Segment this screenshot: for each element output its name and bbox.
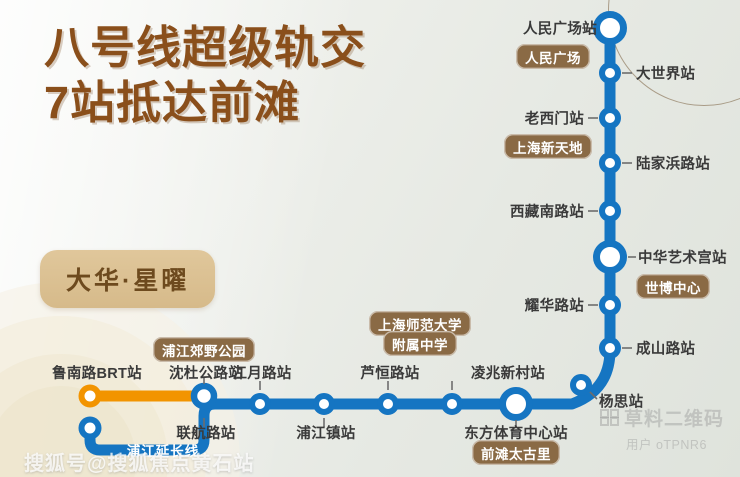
station-label-xizang-nanlu: 西藏南路站	[510, 201, 584, 222]
station-label-lingzhao-xincun: 凌兆新村站	[471, 362, 545, 383]
poi-badge-pujiang-jiaoye-gongyuan: 浦江郊野公园	[153, 337, 255, 362]
poi-badge-renmin-guangchang: 人民广场	[516, 44, 590, 69]
station-label-pujiang-zhen: 浦江镇站	[296, 422, 355, 443]
station-label-lunan-lu-brt: 鲁南路BRT站	[52, 362, 142, 383]
station-marker-pujiang-zhen[interactable]	[316, 396, 332, 412]
station-marker-renmin-guangchang[interactable]	[597, 15, 624, 42]
station-label-yaohua-lu: 耀华路站	[525, 295, 584, 316]
watermark-qr-block: 草料二维码 用户 oTPNR6	[600, 404, 735, 453]
station-marker-zhonghua-yishugong[interactable]	[597, 244, 624, 271]
watermark-qr-user: 用户 oTPNR6	[626, 434, 735, 453]
station-marker-dashijie[interactable]	[602, 65, 618, 81]
station-marker-lunan-lu-brt[interactable]	[82, 388, 99, 405]
station-label-lujiabang-lu: 陆家浜路站	[636, 153, 710, 174]
station-marker-luheng-lu[interactable]	[380, 396, 396, 412]
station-label-luheng-lu: 芦恒路站	[360, 362, 419, 383]
station-label-chengshan-lu: 成山路站	[636, 338, 695, 359]
station-marker-yangsi[interactable]	[573, 377, 589, 393]
poi-badge-xintiandi: 上海新天地	[504, 134, 592, 159]
poi-badge-shibo-zhongxin: 世博中心	[636, 274, 710, 299]
watermark-qr-title-row: 草料二维码	[600, 404, 735, 431]
station-label-renmin-guangchang: 人民广场站	[523, 18, 597, 39]
poi-badge-shishida-fuzhong-line2: 附属中学	[383, 331, 457, 356]
poi-badge-qiantan-taikooli: 前滩太古里	[472, 440, 560, 465]
station-marker-chengshan-lu[interactable]	[602, 340, 618, 356]
watermark-sohu: 搜狐号@搜狐焦点黄石站	[24, 447, 255, 476]
station-marker-yaohua-lu[interactable]	[602, 297, 618, 313]
station-marker-dongfang-tiyu-zhongxin[interactable]	[503, 391, 530, 418]
station-marker-jiangyue-lu[interactable]	[252, 396, 268, 412]
station-marker-lujiabang-lu[interactable]	[602, 155, 618, 171]
station-marker-xizang-nanlu[interactable]	[602, 203, 618, 219]
blue-line-path	[90, 20, 610, 450]
station-marker-lingzhao-xincun[interactable]	[444, 396, 460, 412]
qr-code-icon	[600, 409, 619, 426]
station-label-dashijie: 大世界站	[636, 63, 695, 84]
watermark-qr-title: 草料二维码	[624, 404, 724, 431]
station-label-shendu-gonglu: 沈杜公路站	[169, 362, 243, 383]
station-label-zhonghua-yishugong: 中华艺术宫站	[638, 247, 727, 268]
station-marker-shendu-gonglu[interactable]	[194, 386, 214, 406]
station-marker-laoximen[interactable]	[602, 110, 618, 126]
station-marker-blue-branch-terminus[interactable]	[82, 420, 99, 437]
station-label-laoximen: 老西门站	[525, 108, 584, 129]
poster-canvas: 八号线超级轨交 7站抵达前滩 大华·星曜	[0, 0, 740, 477]
